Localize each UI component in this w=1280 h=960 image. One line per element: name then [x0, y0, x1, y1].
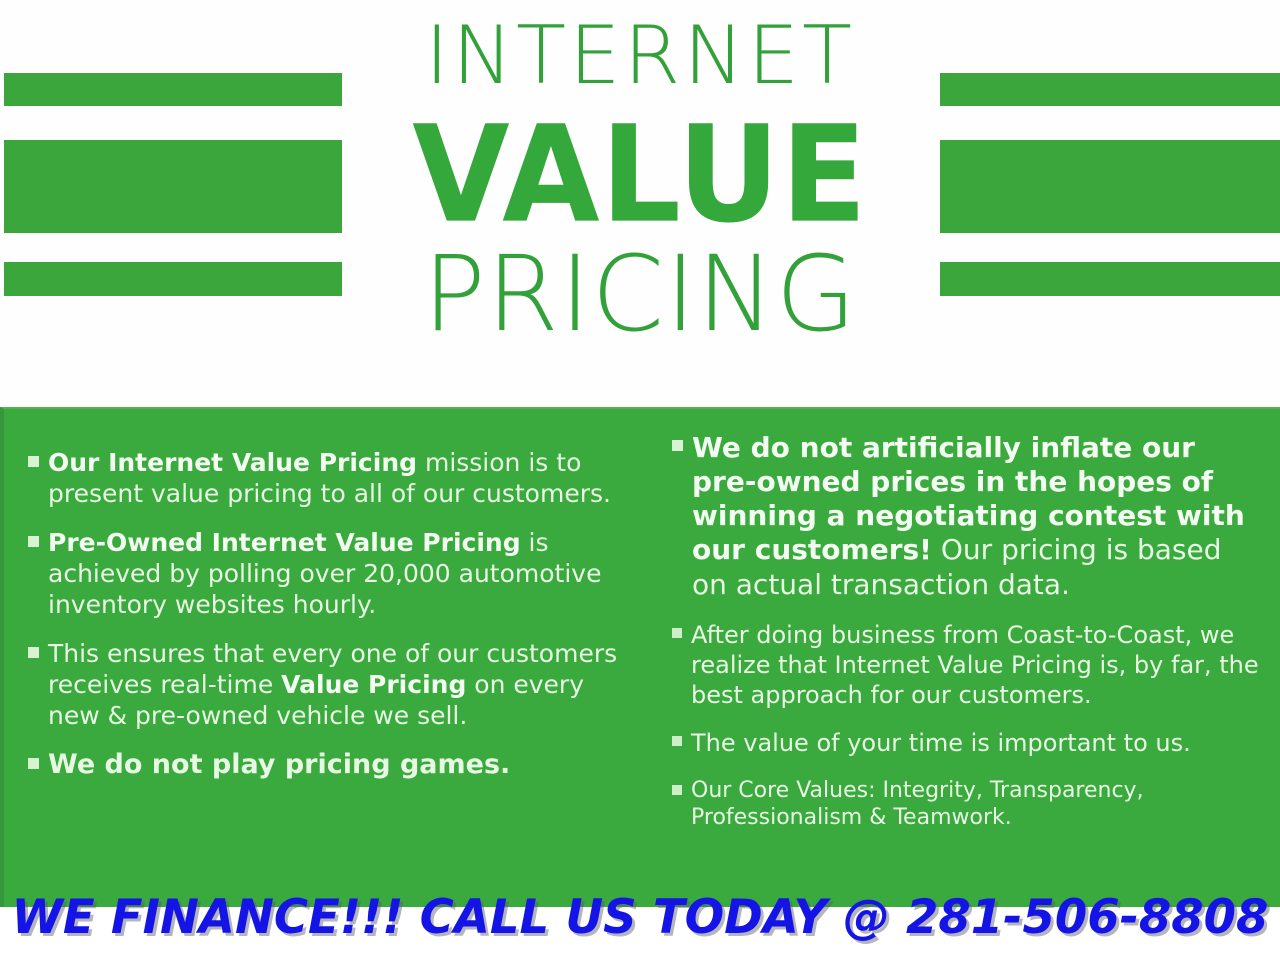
panel-right-column: We do not artificially inflate our pre-o…: [644, 409, 1280, 909]
logo-word-internet: INTERNET: [334, 16, 946, 96]
bullet-square-icon: [28, 456, 39, 467]
bullet-lead: Our Internet Value Pricing: [48, 448, 417, 477]
list-item: The value of your time is important to u…: [672, 728, 1264, 758]
logo-header: INTERNET VALUE PRICING: [0, 0, 1280, 407]
list-item: This ensures that every one of our custo…: [28, 638, 628, 731]
logo-word-pricing: PRICING: [340, 242, 940, 346]
bullet-square-icon: [672, 736, 682, 746]
logo-bar-left-middle: [4, 140, 342, 233]
list-item: Pre-Owned Internet Value Pricing is achi…: [28, 527, 628, 620]
logo-bar-left-bottom: [4, 262, 342, 296]
bullet-text: We do not play pricing games.: [48, 749, 510, 781]
logo-bar-right-top: [940, 73, 1280, 106]
bullet-text: Pre-Owned Internet Value Pricing is achi…: [48, 527, 628, 620]
logo-word-value: VALUE: [340, 108, 940, 242]
finance-call-banner: WE FINANCE!!! CALL US TODAY @ 281-506-88…: [0, 907, 1280, 960]
internet-value-pricing-graphic: INTERNET VALUE PRICING Our Internet Valu…: [0, 0, 1280, 960]
list-item: We do not artificially inflate our pre-o…: [672, 431, 1264, 602]
bullet-text: We do not artificially inflate our pre-o…: [692, 431, 1264, 602]
bullet-text: The value of your time is important to u…: [691, 728, 1191, 758]
finance-call-banner-text: WE FINANCE!!! CALL US TODAY @ 281-506-88…: [6, 894, 1273, 941]
panel-columns: Our Internet Value Pricing mission is to…: [4, 409, 1280, 909]
bullet-square-icon: [28, 536, 39, 547]
bullet-text: Our Core Values: Integrity, Transparency…: [691, 777, 1264, 832]
bullet-square-icon: [28, 647, 39, 658]
bullet-lead: Pre-Owned Internet Value Pricing: [48, 528, 521, 557]
logo-bar-right-bottom: [940, 262, 1280, 296]
bullet-emphasis: Value Pricing: [281, 670, 466, 699]
logo-bar-right-middle: [940, 140, 1280, 233]
bullet-text: After doing business from Coast-to-Coast…: [691, 620, 1264, 711]
bullet-square-icon: [672, 440, 683, 451]
bullet-square-icon: [672, 785, 682, 795]
bullet-square-icon: [672, 628, 682, 638]
bullet-text: This ensures that every one of our custo…: [48, 638, 628, 731]
list-item: After doing business from Coast-to-Coast…: [672, 620, 1264, 711]
list-item: Our Internet Value Pricing mission is to…: [28, 447, 628, 509]
list-item: Our Core Values: Integrity, Transparency…: [672, 777, 1264, 832]
value-pricing-panel: Our Internet Value Pricing mission is to…: [0, 407, 1280, 907]
list-item: We do not play pricing games.: [28, 749, 628, 781]
bullet-square-icon: [28, 758, 39, 769]
logo-bar-left-top: [4, 73, 342, 106]
panel-left-column: Our Internet Value Pricing mission is to…: [4, 409, 644, 909]
bullet-text: Our Internet Value Pricing mission is to…: [48, 447, 628, 509]
